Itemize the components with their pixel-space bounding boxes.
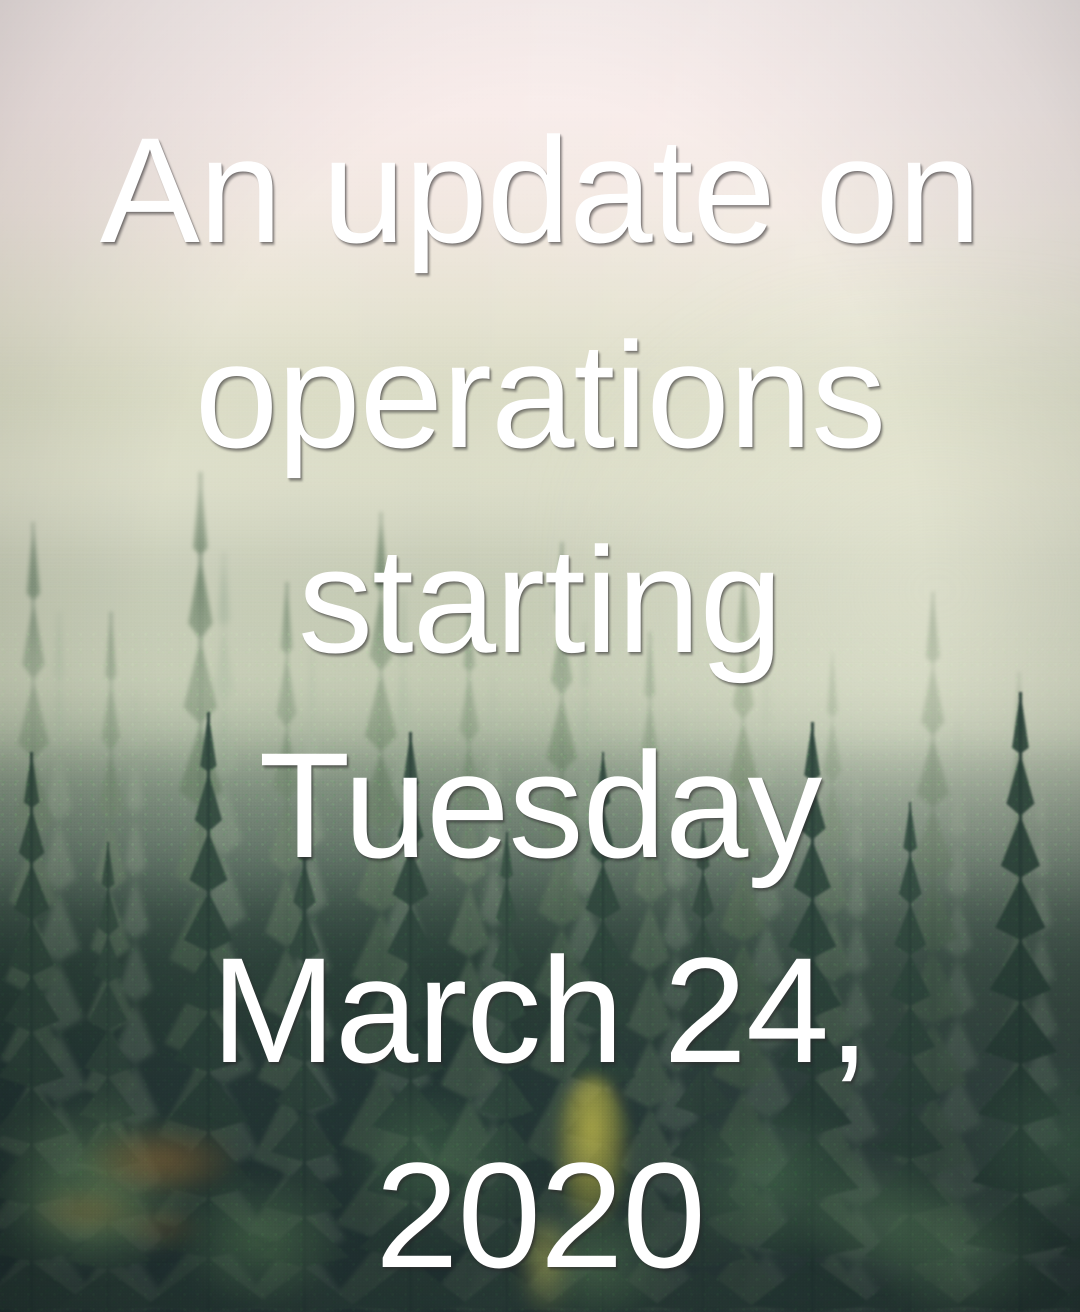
headline-text: An update on operations starting Tuesday… (0, 88, 1080, 1312)
poster-image: An update on operations starting Tuesday… (0, 0, 1080, 1312)
